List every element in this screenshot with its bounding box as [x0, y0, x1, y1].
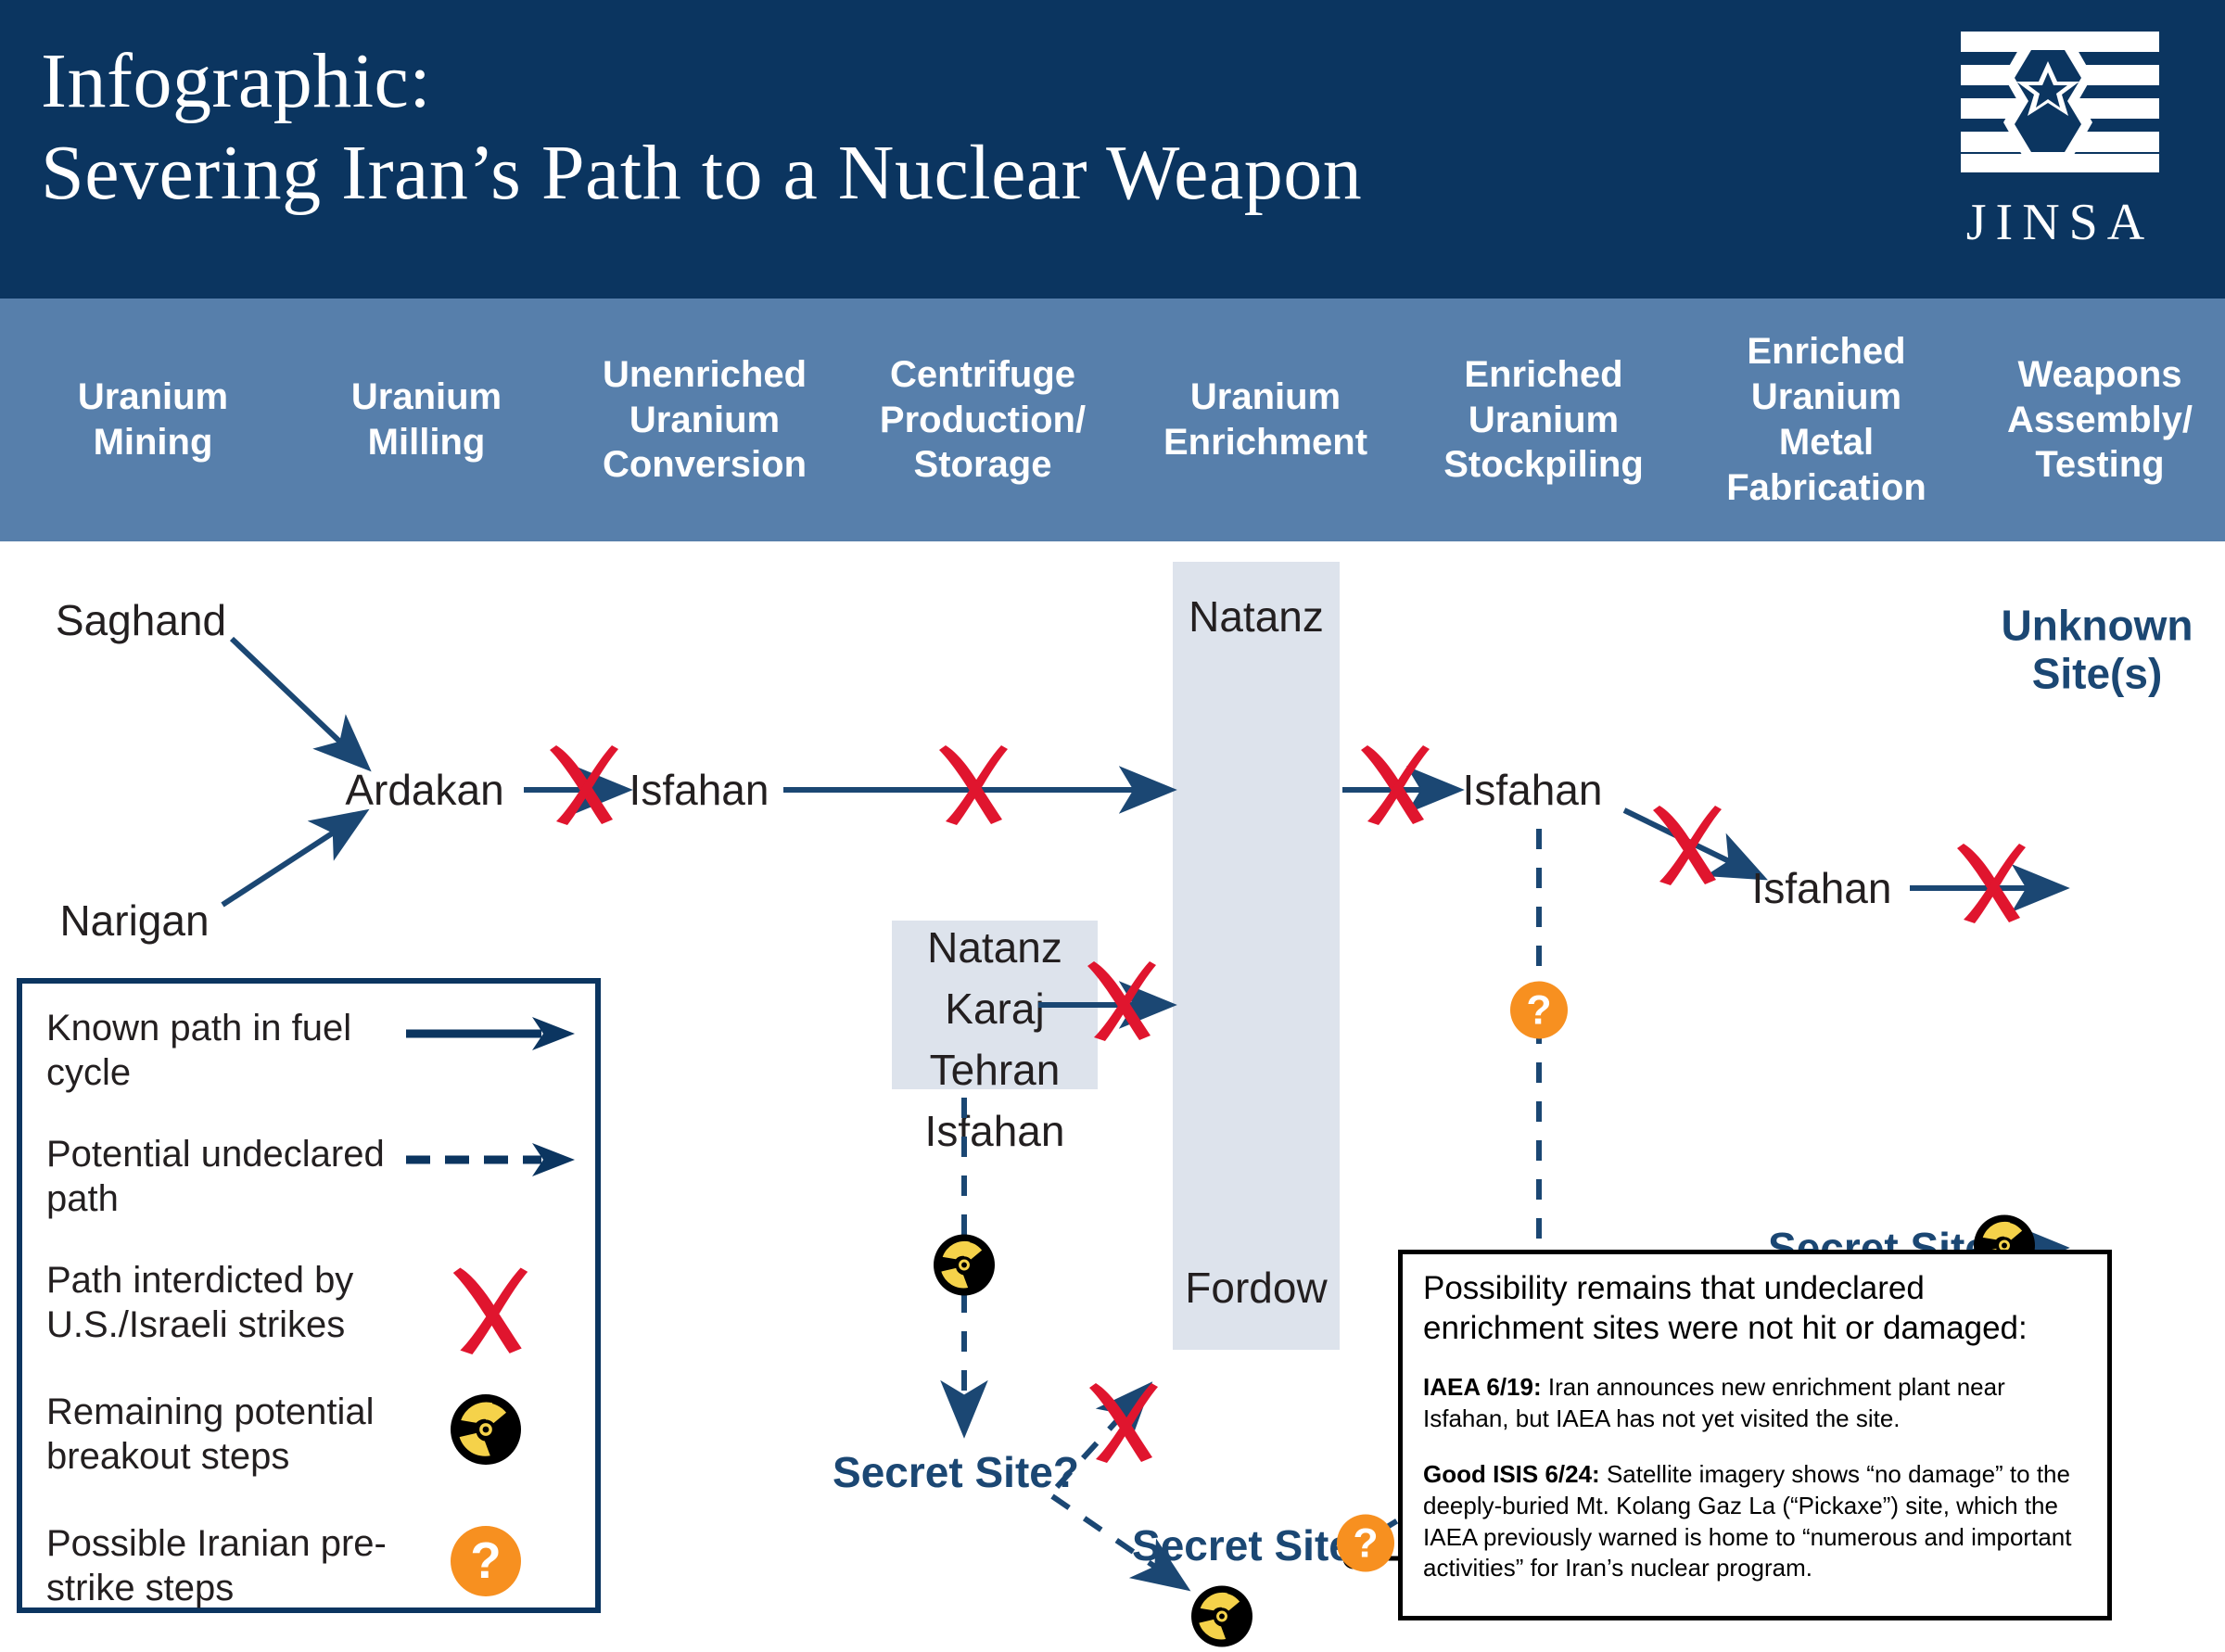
radiation-hazard-icon	[402, 1390, 578, 1479]
node-unknown-sites: Unknown Site(s)	[2002, 602, 2193, 699]
legend-label-known-path: Known path in fuel cycle	[46, 1006, 402, 1095]
node-saghand: Saghand	[56, 595, 226, 645]
node-isfahan-metal: Isfahan	[1752, 863, 1892, 913]
stage-unenriched-uranium-conversion: Unenriched Uranium Conversion	[575, 299, 834, 541]
svg-text:?: ?	[1526, 987, 1551, 1033]
svg-text:?: ?	[1353, 1520, 1378, 1566]
node-narigan: Narigan	[59, 896, 209, 946]
node-ardakan: Ardakan	[345, 765, 503, 815]
red-x-strike-icon	[548, 740, 620, 825]
title-line-2: Severing Iran’s Path to a Nuclear Weapon	[41, 127, 1802, 219]
legend-item-undeclared-path: Potential undeclared path	[46, 1132, 578, 1221]
jinsa-flag-star-of-david-logo	[1953, 24, 2167, 180]
legend-item-known-path: Known path in fuel cycle	[46, 1006, 578, 1095]
red-x-strike-icon	[937, 740, 1010, 825]
stage-band: Uranium Mining Uranium Milling Unenriche…	[0, 299, 2225, 541]
note-paragraph-iaea: IAEA 6/19: Iran announces new enrichment…	[1423, 1372, 2089, 1435]
dashed-arrow-icon	[402, 1132, 578, 1221]
red-x-strike-icon	[1955, 838, 2028, 923]
red-x-strike-icon	[1087, 1378, 1160, 1463]
red-x-icon	[402, 1258, 578, 1347]
legend-box: Known path in fuel cycle Potential undec…	[17, 978, 601, 1613]
stage-enriched-uranium-stockpiling: Enriched Uranium Stockpiling	[1414, 299, 1673, 541]
radiation-hazard-icon	[1191, 1586, 1252, 1652]
note-box: Possibility remains that undeclared enri…	[1398, 1250, 2112, 1620]
note-isis-label: Good ISIS 6/24:	[1423, 1460, 1600, 1488]
orange-question-mark-icon: ?	[402, 1521, 578, 1610]
stage-weapons-assembly-testing: Weapons Assembly/ Testing	[1984, 299, 2216, 541]
radiation-hazard-icon	[934, 1235, 995, 1301]
legend-item-breakout-steps: Remaining potential breakout steps	[46, 1390, 578, 1479]
note-iaea-label: IAEA 6/19:	[1423, 1373, 1542, 1401]
legend-label-pre-strike-steps: Possible Iranian pre-strike steps	[46, 1521, 402, 1610]
solid-arrow-icon	[402, 1006, 578, 1095]
node-isfahan-conversion: Isfahan	[629, 765, 769, 815]
red-x-strike-icon	[1086, 956, 1158, 1041]
red-x-strike-icon	[1651, 800, 1723, 885]
stage-centrifuge-production-storage: Centrifuge Production/ Storage	[853, 299, 1112, 541]
legend-label-breakout-steps: Remaining potential breakout steps	[46, 1390, 402, 1479]
red-x-strike-icon	[1359, 740, 1431, 825]
stage-enriched-uranium-metal-fabrication: Enriched Uranium Metal Fabrication	[1697, 299, 1956, 541]
jinsa-logo: JINSA	[1939, 24, 2180, 263]
svg-text:?: ?	[470, 1531, 501, 1589]
legend-label-undeclared-path: Potential undeclared path	[46, 1132, 402, 1221]
logo-svg	[1953, 24, 2167, 180]
legend-label-interdicted-path: Path interdicted by U.S./Israeli strikes	[46, 1258, 402, 1347]
node-isfahan-stockpile: Isfahan	[1463, 765, 1603, 815]
stage-uranium-milling: Uranium Milling	[306, 299, 547, 541]
page-header: Infographic: Severing Iran’s Path to a N…	[0, 0, 2225, 299]
node-secret-site-centrifuge: Secret Site?	[833, 1447, 1079, 1497]
stage-uranium-enrichment: Uranium Enrichment	[1136, 299, 1395, 541]
title-line-1: Infographic:	[41, 38, 431, 124]
legend-item-pre-strike-steps: Possible Iranian pre-strike steps ?	[46, 1521, 578, 1610]
note-paragraph-isis: Good ISIS 6/24: Satellite imagery shows …	[1423, 1459, 2089, 1584]
orange-question-mark-icon: ?	[1510, 982, 1568, 1044]
legend-item-interdicted-path: Path interdicted by U.S./Israeli strikes	[46, 1258, 578, 1347]
stage-uranium-mining: Uranium Mining	[28, 299, 278, 541]
logo-wordmark: JINSA	[1939, 193, 2180, 252]
note-title: Possibility remains that undeclared enri…	[1423, 1269, 2089, 1348]
orange-question-mark-icon: ?	[1337, 1515, 1394, 1577]
page-title: Infographic: Severing Iran’s Path to a N…	[41, 35, 1802, 219]
